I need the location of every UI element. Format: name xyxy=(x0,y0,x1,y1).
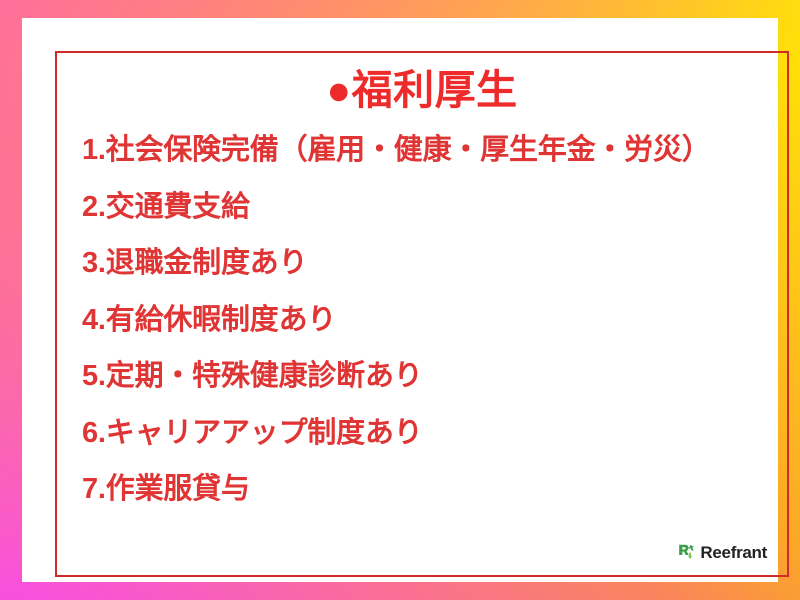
list-item: 4.有給休暇制度あり xyxy=(82,306,782,363)
list-item: 3.退職金制度あり xyxy=(82,249,782,306)
list-item: 2.交通費支給 xyxy=(82,193,782,250)
list-item: 1.社会保険完備（雇用・健康・厚生年金・労災） xyxy=(82,136,782,193)
slide-background: ●福利厚生 1.社会保険完備（雇用・健康・厚生年金・労災） 2.交通費支給 3.… xyxy=(0,0,800,600)
list-item: 7.作業服貸与 xyxy=(82,475,782,532)
logo-text: Reefrant xyxy=(700,544,767,561)
slide-content: ●福利厚生 1.社会保険完備（雇用・健康・厚生年金・労災） 2.交通費支給 3.… xyxy=(55,51,789,577)
list-item: 6.キャリアアップ制度あり xyxy=(82,419,782,476)
list-item: 5.定期・特殊健康診断あり xyxy=(82,362,782,419)
page-title: ●福利厚生 xyxy=(55,68,789,113)
benefits-list: 1.社会保険完備（雇用・健康・厚生年金・労災） 2.交通費支給 3.退職金制度あ… xyxy=(82,136,782,532)
brand-logo: Reefrant xyxy=(678,543,767,562)
white-card: ●福利厚生 1.社会保険完備（雇用・健康・厚生年金・労災） 2.交通費支給 3.… xyxy=(22,18,778,582)
reefrant-r-mark-icon xyxy=(678,543,697,562)
